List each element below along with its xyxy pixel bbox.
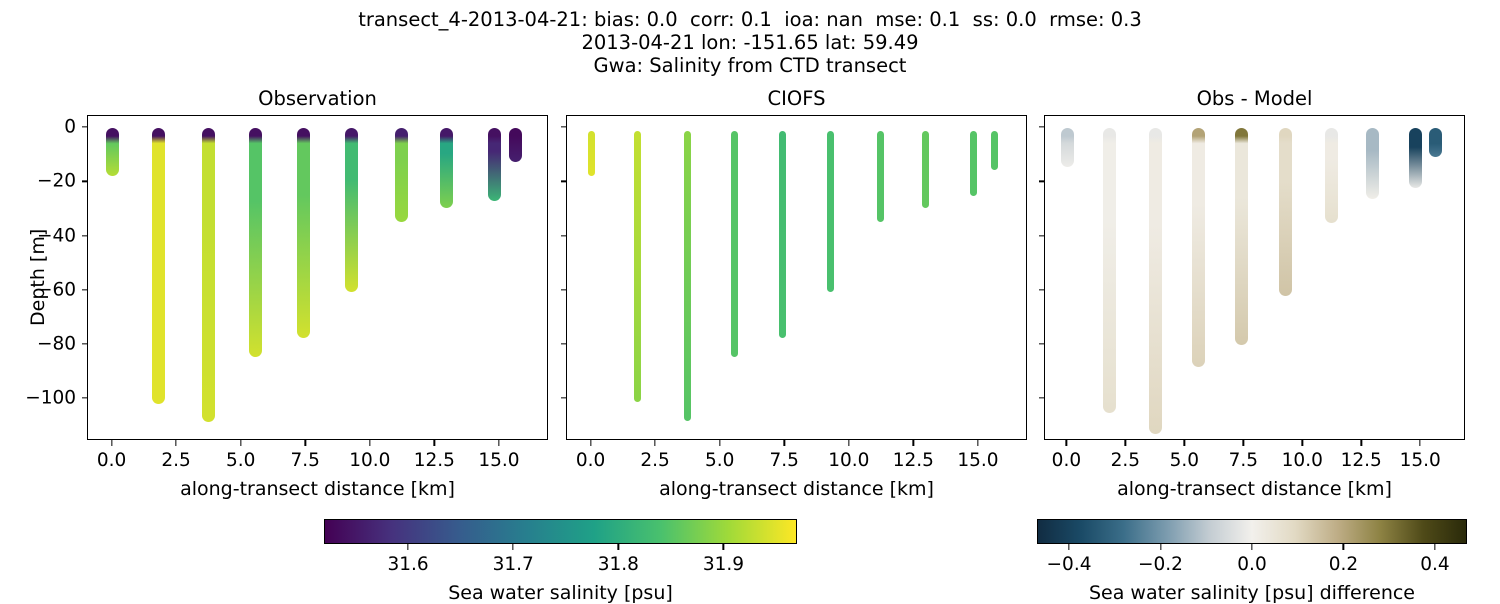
plot-area-observation[interactable] xyxy=(87,115,548,440)
cast-column xyxy=(395,128,408,221)
x-tick-label: 15.0 xyxy=(957,440,998,471)
plot-area-ciofs[interactable] xyxy=(566,115,1027,440)
cast-column xyxy=(440,128,453,208)
x-tick-label: 5.0 xyxy=(226,440,255,471)
figure-root: transect_4-2013-04-21: bias: 0.0 corr: 0… xyxy=(0,0,1500,600)
x-tick-label: 12.5 xyxy=(414,440,455,471)
colorbar-tick-label: 31.8 xyxy=(598,544,639,575)
cast-column xyxy=(1429,128,1442,156)
x-tick-label: 0.0 xyxy=(1052,440,1081,471)
cast-column xyxy=(1366,128,1379,198)
colorbar-tick-label: 0.4 xyxy=(1420,544,1449,575)
cast-column xyxy=(827,131,834,292)
panel-obs-minus-model: Obs - Model along-transect distance [km]… xyxy=(1044,115,1465,440)
x-tick-label: 0.0 xyxy=(576,440,605,471)
colorbar-salinity: Sea water salinity [psu] 31.631.731.831.… xyxy=(324,519,797,544)
y-tick-label: −100 xyxy=(25,388,87,409)
cast-column xyxy=(1103,128,1116,412)
x-axis-label-obs-minus-model: along-transect distance [km] xyxy=(1044,478,1465,500)
y-tick-mark xyxy=(561,343,567,344)
y-tick-label: −20 xyxy=(37,171,87,192)
x-tick-label: 7.5 xyxy=(291,440,320,471)
cast-column xyxy=(922,131,929,208)
cast-column xyxy=(488,128,501,201)
colorbar-label-difference: Sea water salinity [psu] difference xyxy=(1037,582,1467,604)
cast-column xyxy=(345,128,358,292)
colorbar-tick-label: 31.7 xyxy=(493,544,534,575)
cast-column xyxy=(106,128,119,175)
panel-title-ciofs: CIOFS xyxy=(566,87,1027,110)
panel-observation: Observation Depth [m] along-transect dis… xyxy=(87,115,548,440)
colorbar-gradient-difference xyxy=(1037,519,1467,544)
y-tick-label: −60 xyxy=(37,279,87,300)
cast-column xyxy=(634,131,641,402)
cast-column xyxy=(588,131,595,176)
y-tick-mark xyxy=(1039,397,1045,398)
y-tick-mark xyxy=(1039,289,1045,290)
y-tick-mark xyxy=(1039,181,1045,182)
cast-column xyxy=(684,131,691,421)
colorbar-label-salinity: Sea water salinity [psu] xyxy=(324,582,797,604)
cast-column xyxy=(1235,128,1248,345)
colorbar-salinity-difference: Sea water salinity [psu] difference −0.4… xyxy=(1037,519,1467,544)
y-tick-mark xyxy=(561,235,567,236)
y-tick-mark xyxy=(561,289,567,290)
plot-area-obs-minus-model[interactable] xyxy=(1044,115,1465,440)
panel-title-observation: Observation xyxy=(87,87,548,110)
x-tick-label: 15.0 xyxy=(478,440,519,471)
cast-column xyxy=(877,131,884,222)
y-tick-mark xyxy=(561,127,567,128)
cast-column xyxy=(1409,128,1422,188)
cast-column xyxy=(249,128,262,357)
cast-column xyxy=(1149,128,1162,434)
x-tick-label: 12.5 xyxy=(1341,440,1382,471)
y-tick-mark xyxy=(561,181,567,182)
x-tick-label: 5.0 xyxy=(1170,440,1199,471)
cast-column xyxy=(509,128,522,162)
x-tick-label: 2.5 xyxy=(640,440,669,471)
cast-column xyxy=(779,131,786,338)
colorbar-tick-label: 31.6 xyxy=(387,544,428,575)
x-tick-label: 12.5 xyxy=(893,440,934,471)
cast-column xyxy=(1061,128,1074,167)
y-tick-label: −40 xyxy=(37,225,87,246)
colorbar-gradient-salinity xyxy=(324,519,797,544)
x-tick-label: 7.5 xyxy=(770,440,799,471)
cast-column xyxy=(970,131,977,196)
panel-ciofs: CIOFS along-transect distance [km] 0.02.… xyxy=(566,115,1027,440)
colorbar-tick-label: −0.2 xyxy=(1138,544,1183,575)
suptitle-line-1: transect_4-2013-04-21: bias: 0.0 corr: 0… xyxy=(0,8,1500,31)
x-tick-label: 7.5 xyxy=(1229,440,1258,471)
y-tick-mark xyxy=(561,397,567,398)
x-tick-label: 10.0 xyxy=(1282,440,1323,471)
y-tick-mark xyxy=(1039,127,1045,128)
x-tick-label: 0.0 xyxy=(97,440,126,471)
cast-column xyxy=(202,128,215,422)
cast-column xyxy=(1325,128,1338,223)
suptitle-line-2: 2013-04-21 lon: -151.65 lat: 59.49 xyxy=(0,31,1500,54)
x-tick-label: 2.5 xyxy=(1111,440,1140,471)
x-axis-label-ciofs: along-transect distance [km] xyxy=(566,478,1027,500)
x-tick-label: 2.5 xyxy=(161,440,190,471)
colorbar-tick-label: −0.4 xyxy=(1047,544,1092,575)
x-tick-label: 5.0 xyxy=(705,440,734,471)
x-tick-label: 10.0 xyxy=(349,440,390,471)
x-tick-label: 10.0 xyxy=(828,440,869,471)
cast-column xyxy=(731,131,738,357)
panel-title-obs-minus-model: Obs - Model xyxy=(1044,87,1465,110)
cast-column xyxy=(297,128,310,338)
suptitle-line-3: Gwa: Salinity from CTD transect xyxy=(0,54,1500,77)
cast-column xyxy=(991,131,998,170)
x-tick-label: 15.0 xyxy=(1400,440,1441,471)
colorbar-tick-label: 0.2 xyxy=(1329,544,1358,575)
x-axis-label-observation: along-transect distance [km] xyxy=(87,478,548,500)
y-tick-mark xyxy=(1039,343,1045,344)
colorbar-tick-label: 0.0 xyxy=(1237,544,1266,575)
cast-column xyxy=(152,128,165,404)
cast-column xyxy=(1192,128,1205,366)
y-tick-mark xyxy=(1039,235,1045,236)
colorbar-tick-label: 31.9 xyxy=(703,544,744,575)
cast-column xyxy=(1279,128,1292,296)
y-tick-label: 0 xyxy=(64,117,87,138)
y-tick-label: −80 xyxy=(37,333,87,354)
